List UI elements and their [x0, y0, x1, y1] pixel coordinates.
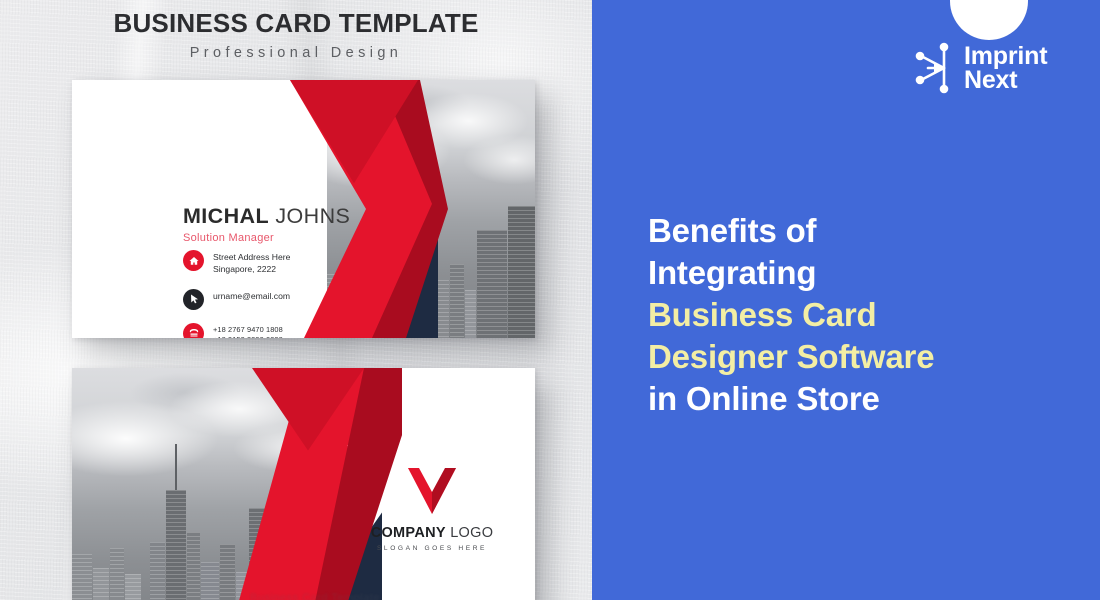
brand-name: Imprint Next: [964, 44, 1047, 92]
brand-logo[interactable]: Imprint Next: [910, 42, 1047, 94]
brand-name-line2: Next: [964, 66, 1017, 94]
company-slogan: SLOGAN GOES HERE: [352, 545, 512, 552]
company-logo-block: COMPANY LOGO SLOGAN GOES HERE: [352, 466, 512, 552]
showcase-header: BUSINESS CARD TEMPLATE Professional Desi…: [0, 8, 592, 61]
phone-icon: [183, 323, 204, 338]
headline-line-1: Benefits of: [648, 210, 1088, 252]
card-name: MICHAL JOHNS: [183, 204, 350, 229]
page-subtitle: Professional Design: [0, 45, 592, 61]
card-name-first: MICHAL: [183, 204, 269, 228]
card-identity: MICHAL JOHNS Solution Manager: [183, 204, 350, 244]
v-chevron-logo-icon: [405, 466, 459, 516]
card-name-last: JOHNS: [275, 204, 350, 228]
contact-address: Street Address Here Singapore, 2222: [213, 250, 290, 276]
contact-row-address: Street Address Here Singapore, 2222: [183, 250, 303, 276]
company-name-bold: COMPANY: [371, 525, 446, 541]
decorative-circle: [950, 0, 1028, 40]
card-role: Solution Manager: [183, 232, 350, 244]
page-title: BUSINESS CARD TEMPLATE: [0, 8, 592, 39]
contact-row-phone: +18 2767 9470 1808 +18 9153 3990 0008: [183, 323, 303, 338]
promo-banner: BUSINESS CARD TEMPLATE Professional Desi…: [0, 0, 1100, 600]
cursor-icon: [183, 289, 204, 310]
bottom-caption-ghost: Business Card Template: [150, 592, 480, 600]
company-name: COMPANY LOGO: [352, 525, 512, 541]
contact-row-email: urname@email.com: [183, 289, 303, 310]
headline-line-2: Integrating: [648, 252, 1088, 294]
home-icon: [183, 250, 204, 271]
headline-line-4: Designer Software: [648, 336, 1088, 378]
contact-email: urname@email.com: [213, 289, 290, 303]
headline-line-3: Business Card: [648, 294, 1088, 336]
headline-panel: Imprint Next Benefits of Integrating Bus…: [592, 0, 1100, 600]
contact-phones: +18 2767 9470 1808 +18 9153 3990 0008: [213, 323, 283, 338]
business-card-back[interactable]: COMPANY LOGO SLOGAN GOES HERE: [72, 368, 535, 600]
headline-line-5: in Online Store: [648, 378, 1088, 420]
card-contact-list: Street Address Here Singapore, 2222 urna…: [183, 250, 303, 338]
company-name-light: LOGO: [450, 525, 493, 541]
imprint-next-node-icon: [910, 42, 958, 94]
business-card-showcase: BUSINESS CARD TEMPLATE Professional Desi…: [0, 0, 592, 600]
headline: Benefits of Integrating Business Card De…: [648, 210, 1088, 420]
business-card-front[interactable]: MICHAL JOHNS Solution Manager Street Add…: [72, 80, 535, 338]
